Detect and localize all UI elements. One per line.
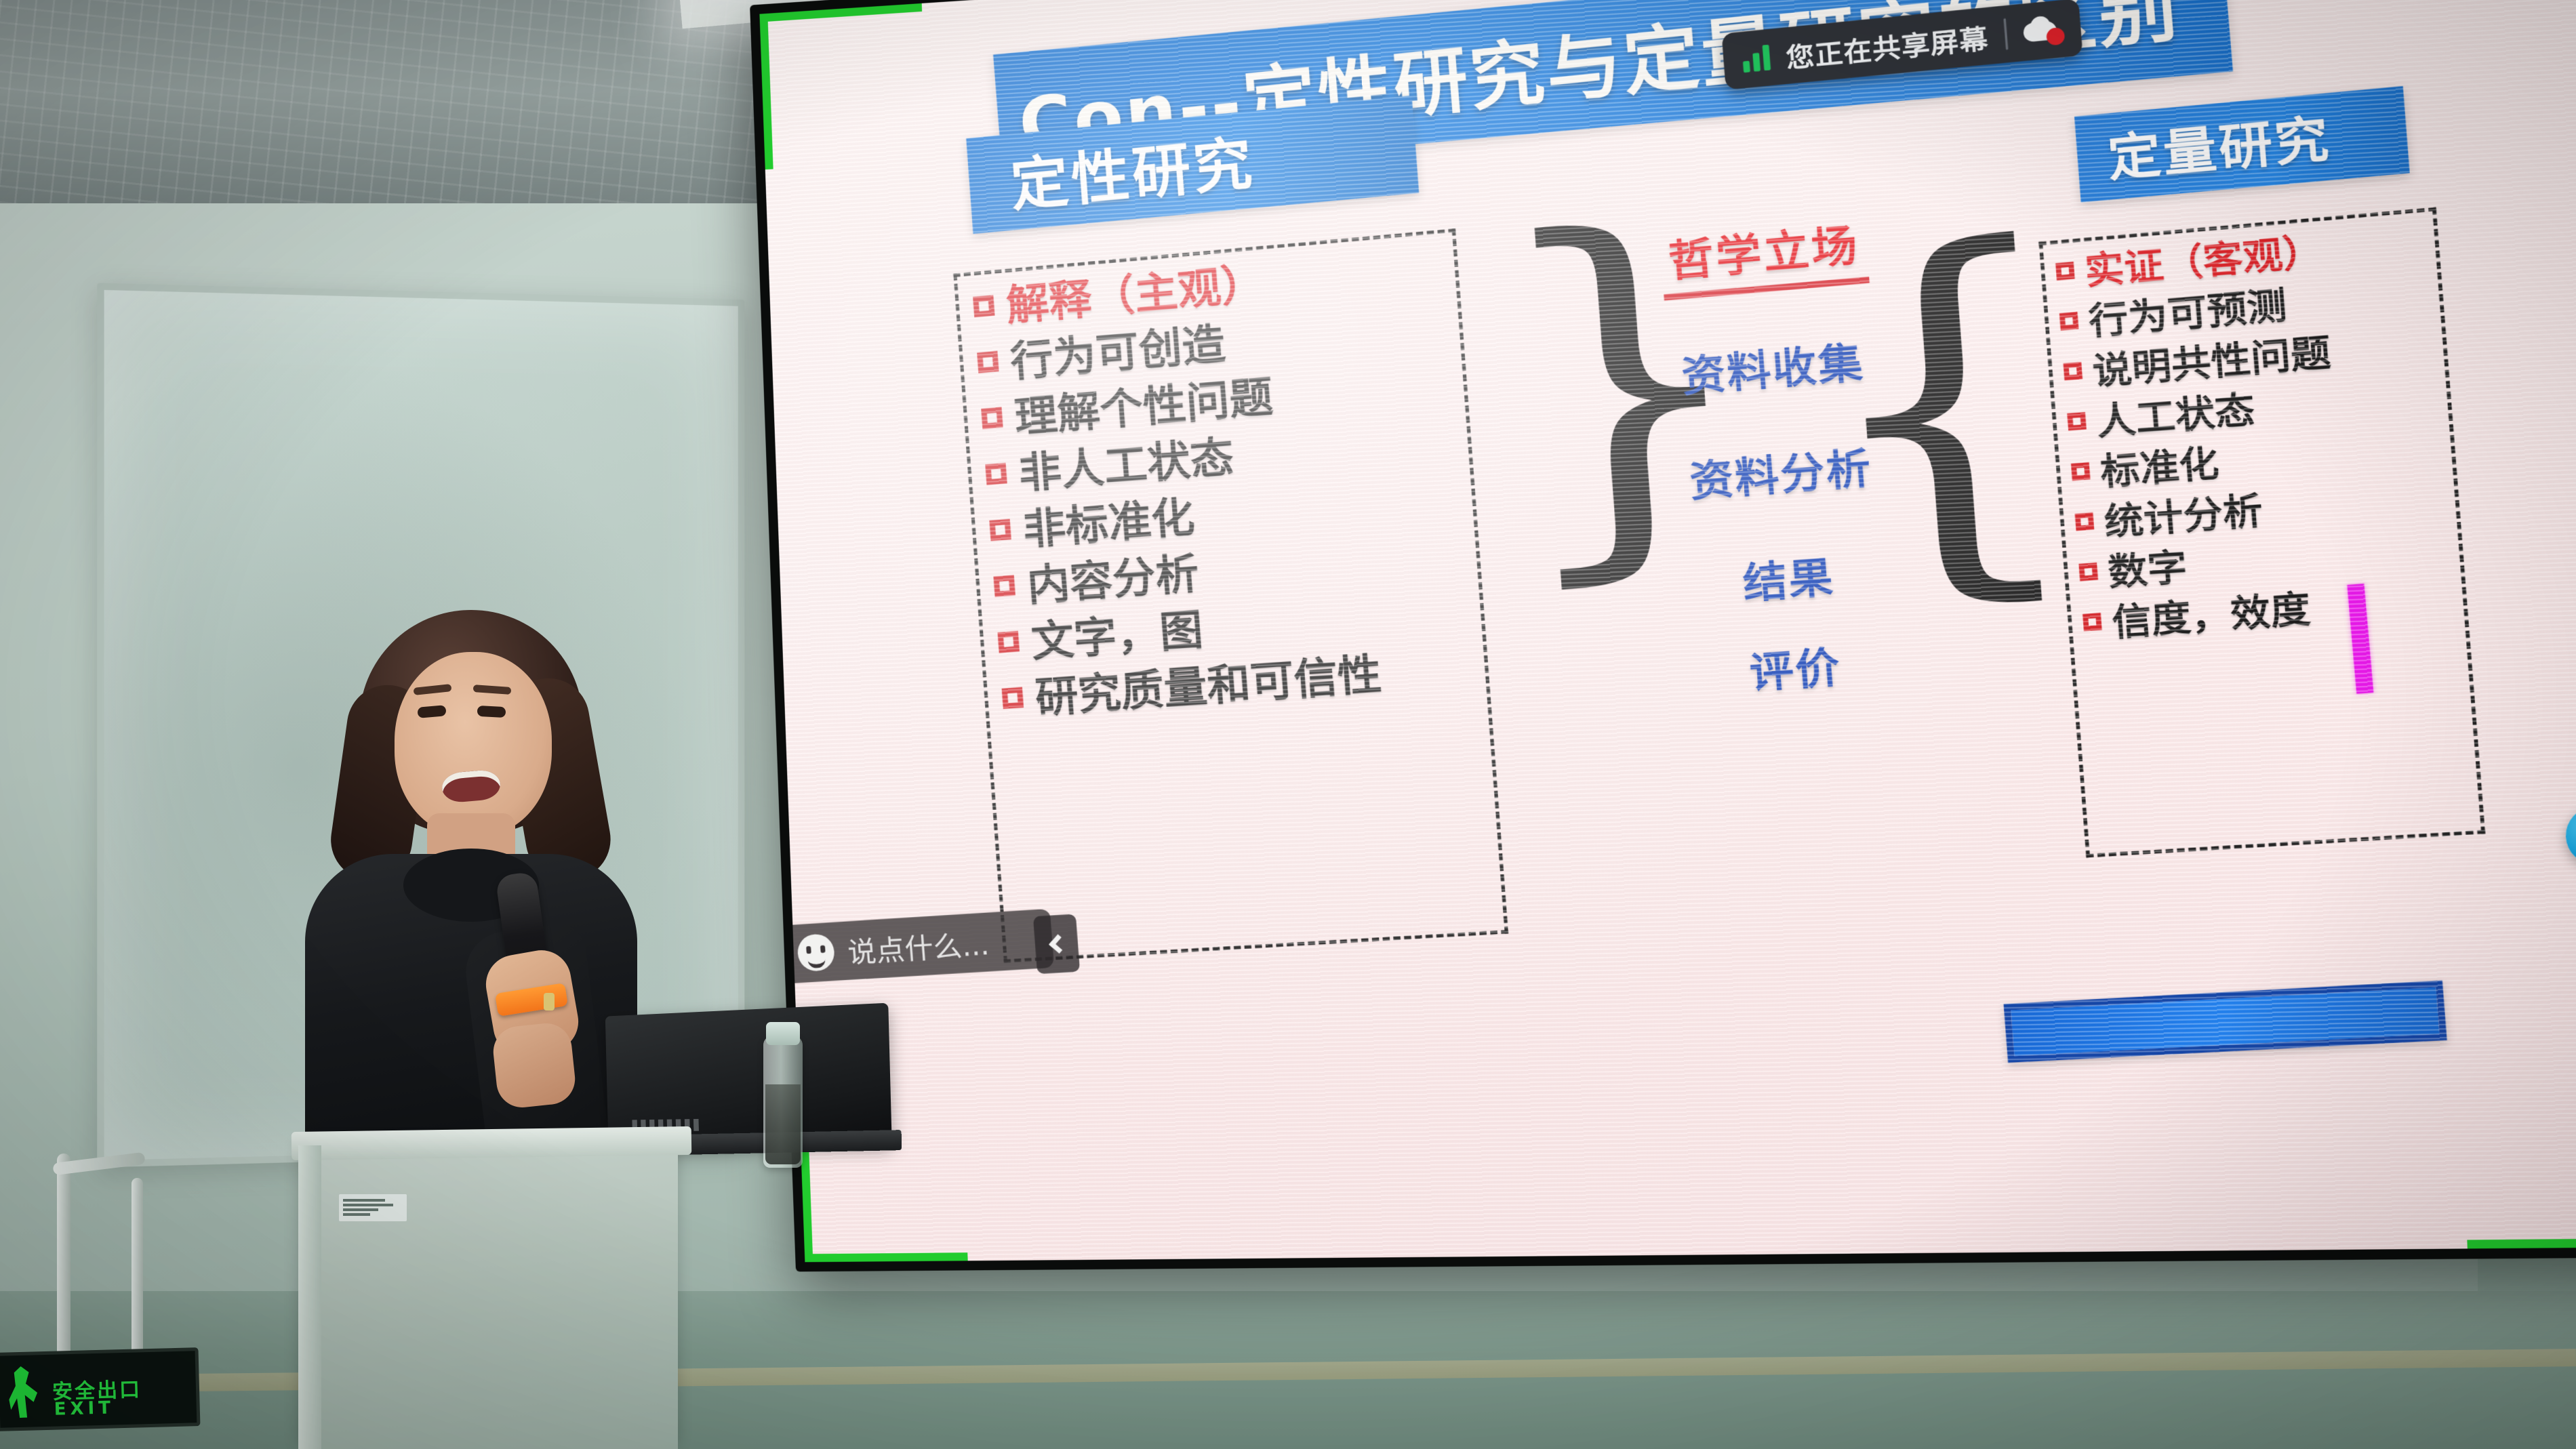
- bullet-square-icon: [985, 463, 1007, 485]
- qualitative-item-label: 非标准化: [1021, 491, 1196, 556]
- share-border-corner-br: [2461, 1078, 2576, 1248]
- quantitative-item-label: 数字: [2106, 544, 2189, 596]
- presenter-eye: [477, 706, 506, 718]
- smiley-face-icon[interactable]: [797, 933, 836, 972]
- lectern: [298, 1145, 678, 1449]
- presenter-hand-lower: [491, 1021, 578, 1109]
- quantitative-item-label: 标准化: [2099, 441, 2221, 495]
- water-bottle-liquid: [765, 1084, 801, 1164]
- laptop: [605, 1003, 892, 1147]
- bullet-square-icon: [993, 575, 1015, 597]
- lectern-edge: [298, 1145, 321, 1449]
- qualitative-bullet-list: 解释（主观）行为可创造理解个性问题非人工状态非标准化内容分析文字，图研究质量和可…: [972, 237, 1524, 731]
- bullet-square-icon: [998, 631, 1020, 653]
- quantitative-item-label: 人工状态: [2095, 387, 2256, 445]
- bullet-square-icon: [2075, 512, 2095, 531]
- bullet-square-icon: [2055, 262, 2075, 281]
- screenshot-root: Con--定性研究与定量研究的区别 定性研究 定量研究 } } 解释（主观）行为…: [0, 0, 2576, 1449]
- share-border-corner-tl: [759, 3, 927, 169]
- led-display-screen: Con--定性研究与定量研究的区别 定性研究 定量研究 } } 解释（主观）行为…: [759, 0, 2576, 1262]
- presentation-slide: Con--定性研究与定量研究的区别 定性研究 定量研究 } } 解释（主观）行为…: [759, 0, 2576, 1262]
- exit-sign-label-en: EXIT: [54, 1397, 115, 1419]
- presenter-ring: [544, 993, 555, 1011]
- lectern-asset-sticker: [339, 1194, 407, 1221]
- lectern-top: [291, 1126, 692, 1160]
- presenter-face: [395, 652, 552, 836]
- led-display-bezel: Con--定性研究与定量研究的区别 定性研究 定量研究 } } 解释（主观）行为…: [750, 0, 2576, 1271]
- bullet-square-icon: [2064, 362, 2083, 381]
- middle-item-evaluation: 评价: [1603, 622, 1990, 710]
- qualitative-item-label: 内容分析: [1025, 547, 1201, 612]
- exit-sign: 安全出口 EXIT: [0, 1347, 200, 1431]
- screen-share-label: 您正在共享屏幕: [1784, 16, 1990, 75]
- chat-input-placeholder: 说点什么...: [846, 921, 990, 971]
- bullet-square-icon: [977, 351, 999, 373]
- quantitative-item-label: 统计分析: [2103, 488, 2265, 546]
- middle-item-results: 结果: [1596, 532, 1984, 621]
- cloud-record-icon[interactable]: [2022, 14, 2064, 47]
- quantitative-header-label: 定量研究: [2105, 87, 2434, 201]
- bullet-square-icon: [1002, 687, 1024, 709]
- water-bottle-cap: [766, 1022, 800, 1045]
- chevron-left-icon: [1049, 934, 1068, 954]
- bullet-square-icon: [973, 295, 994, 317]
- middle-column: 哲学立场 资料收集 资料分析 结果 评价: [1572, 201, 1990, 711]
- bullet-square-icon: [2059, 312, 2079, 331]
- bullet-square-icon: [2071, 462, 2091, 481]
- bullet-square-icon: [981, 407, 1003, 429]
- quantitative-bullet-list: 实证（客观）行为可预测说明共性问题人工状态标准化统计分析数字信度，效度: [2055, 218, 2484, 653]
- quantitative-item-label: 信度，效度: [2110, 586, 2312, 647]
- bullet-square-icon: [2067, 412, 2087, 430]
- qualitative-item-label: 文字，图: [1030, 604, 1205, 668]
- badge-divider: [2003, 18, 2008, 50]
- middle-item-data-analysis: 资料分析: [1588, 426, 1975, 517]
- chat-collapse-button[interactable]: [1033, 914, 1080, 974]
- share-border-corner-tr: [2415, 0, 2576, 73]
- running-person-icon: [8, 1366, 38, 1418]
- slide-footer-blue-bar: [2004, 981, 2447, 1063]
- signal-bars-icon: [1742, 45, 1771, 73]
- bullet-square-icon: [989, 519, 1011, 542]
- bullet-square-icon: [2078, 563, 2098, 581]
- bullet-square-icon: [2082, 613, 2102, 631]
- middle-item-data-collection: 资料收集: [1581, 319, 1967, 412]
